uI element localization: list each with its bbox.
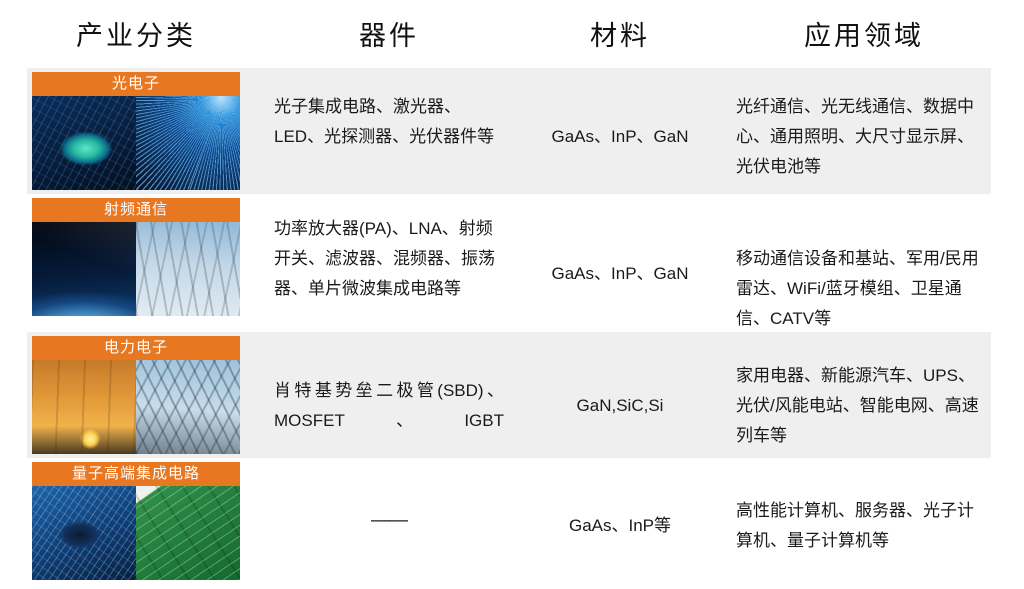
table-header: 产业分类 器件 材料 应用领域 bbox=[0, 0, 1024, 68]
device-cell: 肖特基势垒二极管(SBD)、MOSFET、IGBT bbox=[274, 376, 504, 436]
table-row: 电力电子 肖特基势垒二极管(SBD)、MOSFET、IGBT GaN,SiC,S… bbox=[0, 332, 1024, 458]
category-photo bbox=[32, 96, 240, 190]
device-cell: 光子集成电路、激光器、LED、光探测器、光伏器件等 bbox=[274, 92, 504, 152]
transmission-towers-photo bbox=[136, 360, 240, 454]
application-cell: 光纤通信、光无线通信、数据中心、通用照明、大尺寸显示屏、光伏电池等 bbox=[736, 92, 986, 182]
device-cell: —— bbox=[274, 506, 504, 536]
table-row: 射频通信 功率放大器(PA)、LNA、射频开关、滤波器、混频器、振荡器、单片微波… bbox=[0, 194, 1024, 332]
material-cell: GaAs、InP、GaN bbox=[512, 259, 728, 289]
category-banner-label: 光电子 bbox=[32, 72, 240, 96]
table-row: 光电子 光子集成电路、激光器、LED、光探测器、光伏器件等 GaAs、InP、G… bbox=[0, 68, 1024, 194]
device-cell: 功率放大器(PA)、LNA、射频开关、滤波器、混频器、振荡器、单片微波集成电路等 bbox=[274, 214, 504, 304]
wind-turbines-sunset-photo bbox=[32, 360, 136, 454]
column-header-device: 器件 bbox=[274, 14, 504, 53]
category-banner-label: 量子高端集成电路 bbox=[32, 462, 240, 486]
circuit-board-chip-photo bbox=[32, 96, 136, 190]
category-cell: 光电子 bbox=[32, 72, 240, 190]
blue-light-rays-photo bbox=[136, 96, 240, 190]
application-cell: 高性能计算机、服务器、光子计算机、量子计算机等 bbox=[736, 496, 986, 556]
bga-chip-photo bbox=[32, 486, 136, 580]
application-cell: 移动通信设备和基站、军用/民用雷达、WiFi/蓝牙模组、卫星通信、CATV等 bbox=[736, 244, 986, 334]
category-cell: 量子高端集成电路 bbox=[32, 462, 240, 580]
category-banner-label: 射频通信 bbox=[32, 198, 240, 222]
table-body: 光电子 光子集成电路、激光器、LED、光探测器、光伏器件等 GaAs、InP、G… bbox=[0, 68, 1024, 589]
material-cell: GaAs、InP等 bbox=[512, 511, 728, 541]
category-cell: 射频通信 bbox=[32, 198, 240, 316]
green-pcb-boards-photo bbox=[136, 486, 240, 580]
category-cell: 电力电子 bbox=[32, 336, 240, 454]
table-row: 量子高端集成电路 —— GaAs、InP等 高性能计算机、服务器、光子计算机、量… bbox=[0, 458, 1024, 589]
column-header-material: 材料 bbox=[512, 14, 728, 53]
column-header-category: 产业分类 bbox=[32, 14, 240, 53]
category-banner-label: 电力电子 bbox=[32, 336, 240, 360]
material-cell: GaAs、InP、GaN bbox=[512, 122, 728, 152]
category-photo bbox=[32, 360, 240, 454]
column-header-application: 应用领域 bbox=[736, 14, 992, 53]
industry-classification-table: 产业分类 器件 材料 应用领域 光电子 光子集成电路、激光器、LED、光探测器、… bbox=[0, 0, 1024, 589]
category-photo bbox=[32, 222, 240, 316]
category-photo bbox=[32, 486, 240, 580]
cell-tower-photo bbox=[136, 222, 240, 316]
satellite-over-earth-photo bbox=[32, 222, 136, 316]
material-cell: GaN,SiC,Si bbox=[512, 391, 728, 421]
application-cell: 家用电器、新能源汽车、UPS、光伏/风能电站、智能电网、高速列车等 bbox=[736, 361, 986, 451]
